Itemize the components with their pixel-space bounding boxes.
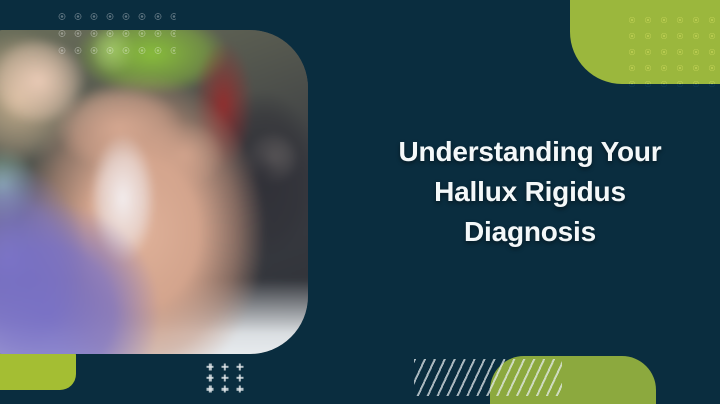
green-blob-bottom-left-shape	[0, 352, 76, 390]
page-title-line-1: Understanding Your	[360, 132, 700, 172]
plus-icon	[232, 384, 247, 395]
plus-marker-grid-icon	[203, 361, 247, 395]
plus-icon	[232, 372, 247, 383]
hero-photo-card	[0, 30, 308, 354]
foot-examination-photo	[0, 30, 308, 354]
slide-canvas: Understanding Your Hallux Rigidus Diagno…	[0, 0, 720, 404]
page-title-line-2: Hallux Rigidus	[360, 172, 700, 212]
ring-dot-grid-top-left-icon	[54, 8, 176, 63]
plus-icon	[203, 372, 218, 383]
plus-icon	[203, 361, 218, 372]
plus-icon	[218, 372, 233, 383]
plus-icon	[218, 384, 233, 395]
plus-icon	[203, 384, 218, 395]
diagonal-hatch-lines-icon	[414, 359, 562, 396]
plus-icon	[232, 361, 247, 372]
page-title-line-3: Diagnosis	[360, 212, 700, 252]
plus-icon	[218, 361, 233, 372]
page-title: Understanding Your Hallux Rigidus Diagno…	[360, 132, 700, 252]
ring-dot-grid-top-right-icon	[624, 12, 716, 90]
